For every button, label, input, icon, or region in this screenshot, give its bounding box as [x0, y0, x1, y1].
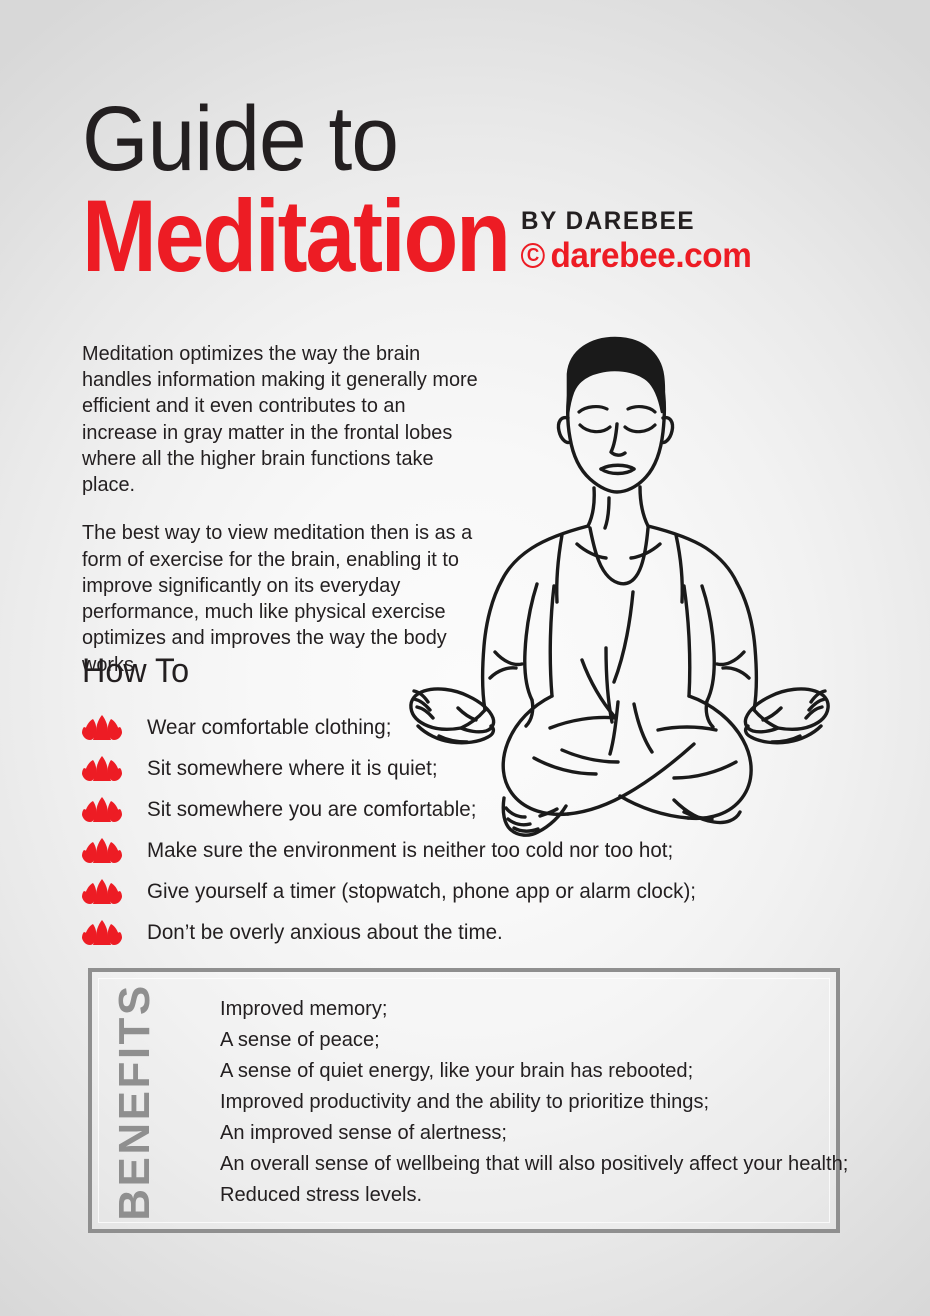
list-item-label: Wear comfortable clothing;	[147, 717, 391, 738]
lotus-icon	[82, 714, 122, 741]
list-item: Don’t be overly anxious about the time.	[82, 912, 702, 953]
list-item: Make sure the environment is neither too…	[82, 830, 702, 871]
list-item: Improved productivity and the ability to…	[220, 1087, 808, 1118]
lotus-icon	[82, 755, 122, 782]
howto-list: Wear comfortable clothing; Sit somewhere…	[82, 707, 702, 953]
list-item: A sense of peace;	[220, 1025, 808, 1056]
poster-header: Guide to Meditation BY DAREBEE C darebee…	[82, 96, 872, 284]
list-item: Sit somewhere where it is quiet;	[82, 748, 702, 789]
website-url: darebee.com	[550, 236, 751, 275]
list-item-label: Sit somewhere where it is quiet;	[147, 758, 438, 779]
intro-paragraph-1: Meditation optimizes the way the brain h…	[82, 341, 482, 498]
list-item-label: Make sure the environment is neither too…	[147, 840, 673, 861]
copyright-icon: C	[521, 243, 545, 268]
title-row-two: Meditation BY DAREBEE C darebee.com	[82, 189, 872, 284]
list-item: An improved sense of alertness;	[220, 1118, 808, 1149]
list-item-label: Don’t be overly anxious about the time.	[147, 922, 503, 943]
list-item: Wear comfortable clothing;	[82, 707, 702, 748]
byline-block: BY DAREBEE C darebee.com	[521, 207, 764, 284]
list-item: A sense of quiet energy, like your brain…	[220, 1056, 808, 1087]
title-line-one: Guide to	[82, 96, 817, 183]
list-item: Reduced stress levels.	[220, 1180, 808, 1211]
list-item: Give yourself a timer (stopwatch, phone …	[82, 871, 702, 912]
list-item: Sit somewhere you are comfortable;	[82, 789, 702, 830]
benefits-vertical-label: BENEFITS	[106, 986, 164, 1217]
poster-canvas: Guide to Meditation BY DAREBEE C darebee…	[0, 0, 930, 1316]
list-item: An overall sense of wellbeing that will …	[220, 1149, 808, 1180]
lotus-icon	[82, 796, 122, 823]
lotus-icon	[82, 919, 122, 946]
byline-author: BY DAREBEE	[521, 207, 756, 236]
list-item: Improved memory;	[220, 994, 808, 1025]
benefits-box: BENEFITS Improved memory; A sense of pea…	[88, 968, 840, 1233]
list-item-label: Give yourself a timer (stopwatch, phone …	[147, 881, 696, 902]
benefits-list: Improved memory; A sense of peace; A sen…	[220, 994, 820, 1211]
title-line-two: Meditation	[82, 189, 509, 284]
benefits-label-text: BENEFITS	[113, 983, 157, 1221]
list-item-label: Sit somewhere you are comfortable;	[147, 799, 476, 820]
howto-heading: How To	[82, 652, 189, 691]
lotus-icon	[82, 878, 122, 905]
byline-website: C darebee.com	[521, 236, 751, 275]
lotus-icon	[82, 837, 122, 864]
intro-section: Meditation optimizes the way the brain h…	[82, 341, 494, 678]
